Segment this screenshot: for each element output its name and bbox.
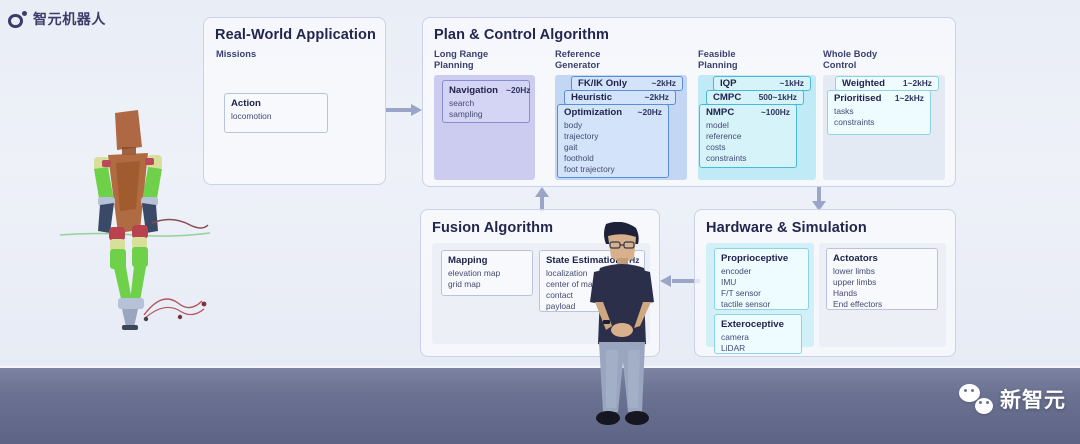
card-actoators-item: lower limbs <box>833 266 931 277</box>
card-iqp-freq: ~1kHz <box>780 78 804 88</box>
panel-title-fusion: Fusion Algorithm <box>432 220 553 236</box>
presenter-person <box>576 222 668 444</box>
card-nmpc-item: constraints <box>706 153 790 164</box>
card-optimization-item: foot trajectory <box>564 164 662 175</box>
card-navigation-item: search <box>449 98 523 109</box>
card-nmpc-freq: ~100Hz <box>761 107 790 117</box>
card-prioritised-item: constraints <box>834 117 924 128</box>
card-navigation-freq: ~20Hz <box>506 85 530 95</box>
card-exteroceptive[interactable]: Exteroceptive camera LiDAR <box>714 314 802 354</box>
card-nmpc[interactable]: NMPC ~100Hz model reference costs constr… <box>699 104 797 168</box>
card-actoators-item: upper limbs <box>833 277 931 288</box>
arrow-fusion-to-plan <box>535 187 549 211</box>
card-exteroceptive-item: LiDAR <box>721 343 795 354</box>
card-actoators-item: Hands <box>833 288 931 299</box>
card-proprioceptive-name: Proprioceptive <box>721 253 788 264</box>
card-heuristic[interactable]: Heuristic ~2kHz <box>564 90 676 105</box>
subhead-feasible-planning: Feasible Planning <box>698 49 738 72</box>
card-proprioceptive-item: tactile sensor <box>721 299 802 310</box>
card-prioritised-item: tasks <box>834 106 924 117</box>
card-action[interactable]: Action locomotion <box>224 93 328 133</box>
card-mapping[interactable]: Mapping elevation map grid map <box>441 250 533 296</box>
subhead-whole-body-control: Whole Body Control <box>823 49 877 72</box>
card-optimization-item: foothold <box>564 153 662 164</box>
card-optimization-item: body <box>564 120 662 131</box>
card-nmpc-name: NMPC <box>706 107 734 118</box>
card-iqp[interactable]: IQP ~1kHz <box>713 76 811 91</box>
card-mapping-name: Mapping <box>448 255 487 266</box>
card-exteroceptive-item: camera <box>721 332 795 343</box>
arrow-realworld-to-plan <box>386 104 424 116</box>
card-optimization-item: trajectory <box>564 131 662 142</box>
card-prioritised-freq: 1~2kHz <box>895 93 924 103</box>
panel-hardware-simulation: Hardware & Simulation Proprioceptive enc… <box>694 209 956 357</box>
card-actoators-item: End effectors <box>833 299 931 310</box>
card-mapping-item: elevation map <box>448 268 526 279</box>
card-action-name: Action <box>231 98 261 109</box>
card-navigation-item: sampling <box>449 109 523 120</box>
card-optimization-item: gait <box>564 142 662 153</box>
card-nmpc-item: model <box>706 120 790 131</box>
stage-floor <box>0 368 1080 444</box>
card-nmpc-item: costs <box>706 142 790 153</box>
card-optimization-freq: ~20Hz <box>638 107 662 117</box>
card-heuristic-freq: ~2kHz <box>645 92 669 102</box>
card-proprioceptive[interactable]: Proprioceptive encoder IMU F/T sensor ta… <box>714 248 809 310</box>
card-fkik-only-name: FK/IK Only <box>578 78 627 89</box>
card-proprioceptive-item: encoder <box>721 266 802 277</box>
card-exteroceptive-name: Exteroceptive <box>721 319 784 330</box>
card-fkik-only-freq: ~2kHz <box>652 78 676 88</box>
subhead-reference-generator: Reference Generator <box>555 49 600 72</box>
arrow-plan-to-hardware <box>812 187 826 211</box>
card-mapping-item: grid map <box>448 279 526 290</box>
wechat-watermark: 新智元 <box>959 384 1066 414</box>
card-optimization[interactable]: Optimization ~20Hz body trajectory gait … <box>557 104 669 178</box>
card-cmpc[interactable]: CMPC 500~1kHz <box>706 90 804 105</box>
projected-slide: Real-World Application Missions Action l… <box>0 0 1080 370</box>
panel-real-world-application: Real-World Application Missions Action l… <box>203 17 386 185</box>
card-prioritised[interactable]: Prioritised 1~2kHz tasks constraints <box>827 90 931 135</box>
card-cmpc-name: CMPC <box>713 92 741 103</box>
card-nmpc-item: reference <box>706 131 790 142</box>
card-navigation[interactable]: Navigation ~20Hz search sampling <box>442 80 530 123</box>
watermark-label: 新智元 <box>1000 384 1066 414</box>
panel-title-hardware: Hardware & Simulation <box>706 220 867 236</box>
card-actoators-name: Actoators <box>833 253 878 264</box>
subhead-missions: Missions <box>216 49 256 60</box>
card-action-item: locomotion <box>231 111 321 122</box>
card-navigation-name: Navigation <box>449 85 498 96</box>
card-weighted[interactable]: Weighted 1~2kHz <box>835 76 939 91</box>
card-actoators[interactable]: Actoators lower limbs upper limbs Hands … <box>826 248 938 310</box>
card-prioritised-name: Prioritised <box>834 93 881 104</box>
card-fkik-only[interactable]: FK/IK Only ~2kHz <box>571 76 683 91</box>
panel-plan-control-algorithm: Plan & Control Algorithm Long Range Plan… <box>422 17 956 187</box>
subhead-long-range-planning: Long Range Planning <box>434 49 488 72</box>
panel-title-real-world: Real-World Application <box>215 27 376 43</box>
panel-title-plan-control: Plan & Control Algorithm <box>434 27 609 43</box>
card-cmpc-freq: 500~1kHz <box>759 92 797 102</box>
card-iqp-name: IQP <box>720 78 737 89</box>
card-optimization-name: Optimization <box>564 107 622 118</box>
card-weighted-name: Weighted <box>842 78 885 89</box>
card-heuristic-name: Heuristic <box>571 92 612 103</box>
card-proprioceptive-item: F/T sensor <box>721 288 802 299</box>
wechat-icon <box>959 384 993 414</box>
card-proprioceptive-item: IMU <box>721 277 802 288</box>
card-weighted-freq: 1~2kHz <box>903 78 932 88</box>
